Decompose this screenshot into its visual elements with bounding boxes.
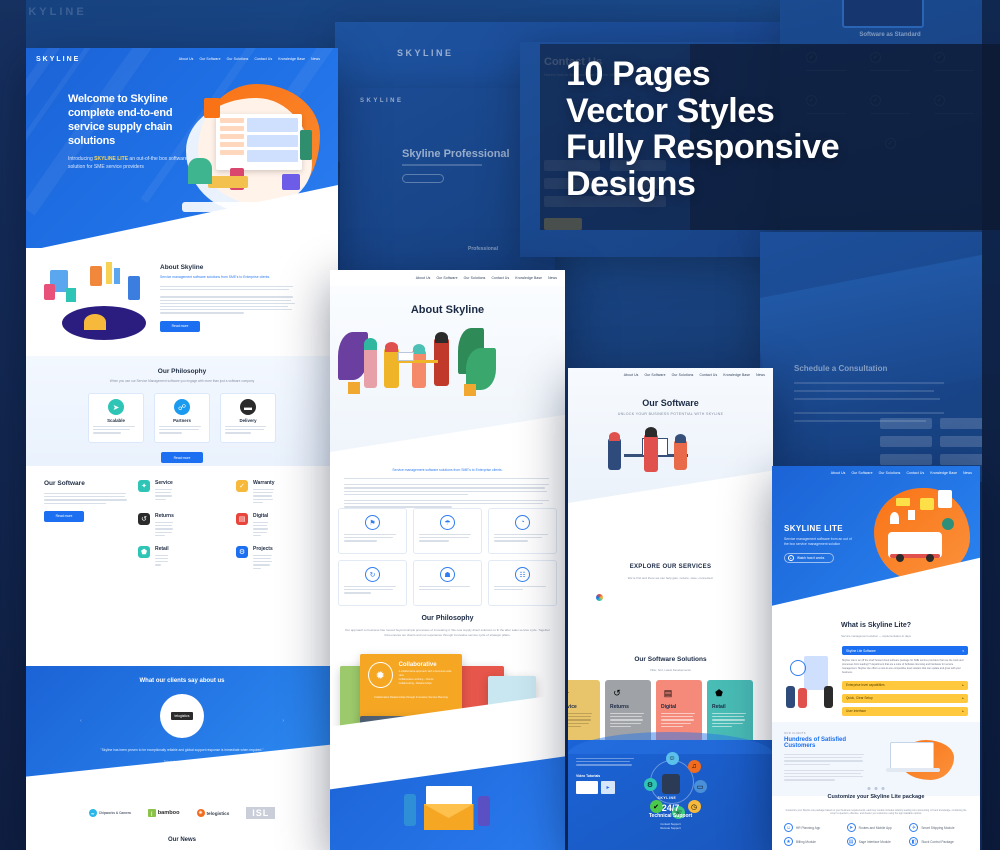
collage-stage: SKYLINE SKYLINE About Us Our Software SK… xyxy=(0,0,1000,850)
services-marker-icon xyxy=(596,594,603,601)
mockup-about[interactable]: About Us Our Software Our Solutions Cont… xyxy=(330,270,565,850)
layouts-icon: ☷ xyxy=(515,567,530,582)
partner-logo: ∞ Chipworks & Camera xyxy=(89,809,131,817)
collaborative-footer: Collaborative Relationships through Inno… xyxy=(368,696,454,699)
nav-item-contact-us[interactable]: Contact Us xyxy=(491,276,509,280)
headline-line-3: Fully Responsive xyxy=(566,129,986,166)
returns-arrows-icon: ↺ xyxy=(138,513,150,525)
lite-hero-sub: Service management software from an out … xyxy=(784,537,854,547)
accordion-item[interactable]: Skyline Lite Software ▾ xyxy=(842,646,968,655)
home-testimonials-title: What our clients say about us xyxy=(26,666,338,684)
carousel-prev-icon[interactable]: ‹ xyxy=(80,718,82,724)
play-icon[interactable]: ▸ xyxy=(601,781,615,794)
chevron-right-icon: ▸ xyxy=(962,683,964,687)
home-about-lead: Service management software solutions fr… xyxy=(160,275,296,280)
stock-icon: ◧ xyxy=(909,837,918,846)
software-page-title: Our Software xyxy=(568,398,773,408)
nav-item-our-solutions[interactable]: Our Solutions xyxy=(672,373,694,377)
software-item[interactable]: ▤ Digital xyxy=(236,513,318,536)
nav-item-news[interactable]: News xyxy=(311,57,320,61)
home-nav[interactable]: About Us Our Software Our Solutions Cont… xyxy=(171,57,328,61)
background-professional-logo: SKYLINE xyxy=(360,98,404,104)
solution-card-title: Retail xyxy=(712,704,748,710)
background-consult-title: Schedule a Consultation xyxy=(794,364,887,373)
carousel-dot[interactable] xyxy=(882,787,885,790)
solution-card-title: Digital xyxy=(661,704,697,710)
play-icon: ▸ xyxy=(788,555,794,561)
module-item[interactable]: ➤ Routes and Mobile App xyxy=(847,823,906,832)
headline-line-2: Vector Styles xyxy=(566,93,986,130)
software-solutions-sub: Filter, Sort, Latest Developments xyxy=(568,668,773,672)
background-professional-label: Professional xyxy=(468,246,498,252)
lite-customers-section: OUR CLIENTS Hundreds of Satisfied Custom… xyxy=(772,722,980,796)
home-software-section: Our Software Read more ✦ Service ✓ Warra… xyxy=(26,466,338,666)
lite-customize-title: Customize your Skyline Lite package xyxy=(772,794,980,800)
home-philosophy-read-more-button[interactable]: Read more xyxy=(161,452,203,463)
accordion-item[interactable]: User Interface ▸ xyxy=(842,707,968,716)
nav-item-about-us[interactable]: About Us xyxy=(179,57,194,61)
about-illustration xyxy=(336,328,556,406)
newsletter-illustration xyxy=(400,784,496,840)
software-illustration xyxy=(602,426,702,484)
home-partner-logos: ∞ Chipworks & Camera | bamboo ✳ telogist… xyxy=(26,794,338,834)
accordion-label: User Interface xyxy=(846,709,866,713)
routes-icon: ➤ xyxy=(847,823,856,832)
tasks-icon: ⚑ xyxy=(365,515,380,530)
philosophy-card-title: Delivery xyxy=(239,418,256,423)
lite-accordion[interactable]: Skyline Lite Software ▾ Skyline Lite is … xyxy=(842,646,968,716)
background-logo: SKYLINE xyxy=(18,6,87,18)
software-item-title: Service xyxy=(155,480,173,486)
lite-illustration xyxy=(786,646,838,712)
home-software-title: Our Software xyxy=(44,480,128,487)
home-news-section: Our News xyxy=(26,834,338,850)
chevron-right-icon: ▸ xyxy=(962,709,964,713)
software-solutions-title: Our Software Solutions xyxy=(568,656,773,663)
accordion-item[interactable]: Enterprise level capabilities ▸ xyxy=(842,681,968,690)
about-footer-band xyxy=(330,738,565,850)
home-hero: SKYLINE About Us Our Software Our Soluti… xyxy=(26,48,338,248)
carousel-next-icon[interactable]: › xyxy=(282,718,284,724)
collaborative-title: Collaborative xyxy=(399,662,454,668)
mockup-skyline-lite[interactable]: About Us Our Software Our Solutions Cont… xyxy=(772,466,980,850)
about-feature-card[interactable]: ☗ xyxy=(413,560,482,606)
software-item[interactable]: ✦ Service xyxy=(138,480,220,503)
about-feature-card[interactable]: ☷ xyxy=(488,560,557,606)
module-label: Stock Control Package xyxy=(921,840,953,844)
mockup-software[interactable]: About Us Our Software Our Solutions Cont… xyxy=(568,368,773,850)
testimonial-avatar: telogistics xyxy=(160,694,204,738)
nav-item-contact-us[interactable]: Contact Us xyxy=(254,57,272,61)
philosophy-card[interactable]: ▬ Delivery xyxy=(220,393,276,443)
software-page-subtitle: UNLOCK YOUR BUSINESS POTENTIAL WITH SKYL… xyxy=(568,412,773,416)
module-label: Smart Shipping Module xyxy=(921,826,954,830)
philosophy-card[interactable]: ☍ Partners xyxy=(154,393,210,443)
home-software-read-more-button[interactable]: Read more xyxy=(44,511,84,522)
agent-avatar xyxy=(662,774,680,794)
lite-what-title: What is Skyline Lite? xyxy=(772,622,980,629)
customers-title: Hundreds of Satisfied Customers xyxy=(784,737,866,749)
background-banner-logo: SKYLINE xyxy=(397,48,454,58)
about-feature-card[interactable]: ◔ xyxy=(488,508,557,554)
partner-logo: ISL xyxy=(246,807,275,819)
home-testimonials-section: What our clients say about us telogistic… xyxy=(26,666,338,794)
nav-item-our-solutions[interactable]: Our Solutions xyxy=(464,276,486,280)
module-label: Sage Interface Module xyxy=(859,840,891,844)
about-feature-card[interactable]: ⚑ xyxy=(338,508,407,554)
handshake-icon: ☍ xyxy=(174,399,190,415)
service-icon: ✦ xyxy=(568,686,573,700)
retail-bag-icon: ⬟ xyxy=(138,546,150,558)
background-professional-title: Skyline Professional xyxy=(402,148,510,160)
module-label: Billing Module xyxy=(796,840,816,844)
about-page-title: About Skyline xyxy=(330,304,565,316)
projects-cog-icon: ⚙ xyxy=(236,546,248,558)
accordion-item[interactable]: Quick, Clear Setup ▸ xyxy=(842,694,968,703)
collaborative-bullet: Collaborating - Relationships xyxy=(399,682,454,686)
lite-what-sub: Service management solution — implementa… xyxy=(772,634,980,638)
testimonial-avatar-label: telogistics xyxy=(171,712,194,720)
module-label: Routes and Mobile App xyxy=(859,826,892,830)
returns-icon: ↺ xyxy=(610,686,624,700)
software-hero: About Us Our Software Our Solutions Cont… xyxy=(568,368,773,518)
lite-hero-copy: SKYLINE LITE Service management software… xyxy=(784,524,854,563)
nav-item-contact-us[interactable]: Contact Us xyxy=(699,373,717,377)
hr-icon: ☺ xyxy=(784,823,793,832)
background-standard-title: Software as Standard xyxy=(780,32,1000,38)
warranty-icon: ☂ xyxy=(440,515,455,530)
about-feature-grid: ⚑ ☂ ◔ ↻ ☗ xyxy=(330,508,565,606)
module-item[interactable]: ✈ Smart Shipping Module xyxy=(909,823,968,832)
nav-item-about-us[interactable]: About Us xyxy=(416,276,431,280)
retail-icon: ⬟ xyxy=(712,686,726,700)
collaborative-icon: ✹ xyxy=(368,662,393,688)
software-explore-title: EXPLORE OUR SERVICES xyxy=(568,564,773,570)
about-feature-card[interactable]: ↻ xyxy=(338,560,407,606)
module-item[interactable]: ◧ Stock Control Package xyxy=(909,837,968,846)
software-item-title: Digital xyxy=(253,513,268,519)
lite-customize-sub: Customize your Skyline Lite package base… xyxy=(784,809,968,816)
nav-item-our-software[interactable]: Our Software xyxy=(644,373,665,377)
nav-item-news[interactable]: News xyxy=(548,276,557,280)
divider xyxy=(402,164,482,166)
background-professional-button xyxy=(402,174,444,183)
accordion-label: Quick, Clear Setup xyxy=(846,696,873,700)
software-support-band: Video Tutorials ▸ ☺ ♫ ▭ ◷ ⚙ ✔ ☏ SKYLINE … xyxy=(568,740,773,850)
support-bullet: Remote Support xyxy=(568,826,773,830)
headline-line-4: Designs xyxy=(566,166,986,203)
software-item[interactable]: ↺ Returns xyxy=(138,513,220,536)
dashboard-icon: ◔ xyxy=(515,515,530,530)
nav-item-our-solutions[interactable]: Our Solutions xyxy=(227,57,249,61)
nav-item-our-solutions[interactable]: Our Solutions xyxy=(879,471,901,475)
home-hero-title: Welcome to Skyline complete end-to-end s… xyxy=(68,92,200,148)
software-item[interactable]: ✓ Warranty xyxy=(236,480,318,503)
laptop-illustration xyxy=(886,732,958,784)
collaborative-bullet: A collaborative approach with a business… xyxy=(399,670,454,678)
headset-icon: ♫ xyxy=(688,760,701,773)
software-item-title: Projects xyxy=(253,546,273,552)
nav-item-our-software[interactable]: Our Software xyxy=(436,276,457,280)
home-philosophy-title: Our Philosophy xyxy=(26,356,338,375)
carousel-dot[interactable] xyxy=(875,787,878,790)
mockup-homepage[interactable]: SKYLINE About Us Our Software Our Soluti… xyxy=(26,48,338,850)
nav-item-our-software[interactable]: Our Software xyxy=(851,471,872,475)
solution-card-title: Returns xyxy=(610,704,646,710)
nav-item-knowledge-base[interactable]: Knowledge Base xyxy=(930,471,957,475)
billing-icon: ★ xyxy=(784,837,793,846)
accordion-body: Skyline Lite is an off the shelf hosted … xyxy=(842,659,968,675)
software-nav[interactable]: About Us Our Software Our Solutions Cont… xyxy=(568,368,773,382)
software-item-title: Retail xyxy=(155,546,169,552)
partner-logo: | bamboo xyxy=(148,809,180,817)
home-news-title: Our News xyxy=(26,834,338,843)
gear-icon: ⚙ xyxy=(644,778,657,791)
home-logo[interactable]: SKYLINE xyxy=(36,56,80,63)
solution-card-title: Service xyxy=(568,704,595,710)
module-item[interactable]: ☺ HR Planning App xyxy=(784,823,843,832)
module-item[interactable]: ★ Billing Module xyxy=(784,837,843,846)
software-item[interactable]: ⬟ Retail xyxy=(138,546,220,569)
home-philosophy-section: Our Philosophy When you use our Service … xyxy=(26,356,338,466)
about-hero: About Us Our Software Our Solutions Cont… xyxy=(330,270,565,470)
user-icon: ☺ xyxy=(666,752,679,765)
software-explore-sub: We're first and there we can help gain, … xyxy=(592,576,749,580)
software-item-title: Returns xyxy=(155,513,174,519)
laptop-icon: ▭ xyxy=(694,780,707,793)
home-about-section: About Skyline Service management softwar… xyxy=(26,248,338,356)
nav-item-our-software[interactable]: Our Software xyxy=(199,57,220,61)
lite-watch-button[interactable]: ▸ Watch how it works xyxy=(784,553,834,563)
carousel-dot[interactable] xyxy=(868,787,871,790)
about-philosophy-sub: Our approach to business has moved beyon… xyxy=(344,628,551,637)
digital-device-icon: ▤ xyxy=(236,513,248,525)
background-page-consultation: Schedule a Consultation xyxy=(760,232,1000,482)
chevron-right-icon: ▸ xyxy=(962,696,964,700)
philosophy-card-title: Scalable xyxy=(107,418,125,423)
support-label: Technical Support xyxy=(568,813,773,819)
nav-item-news[interactable]: News xyxy=(963,471,972,475)
home-philosophy-subtitle: When you use our Service Management soft… xyxy=(26,379,338,383)
headline-line-1: 10 Pages xyxy=(566,56,986,93)
module-label: HR Planning App xyxy=(796,826,820,830)
nav-item-knowledge-base[interactable]: Knowledge Base xyxy=(515,276,542,280)
support-copy: 24/7 Technical Support Contact Support R… xyxy=(568,803,773,830)
options-icon: ☗ xyxy=(440,567,455,582)
philosophy-card[interactable]: ➤ Scalable xyxy=(88,393,144,443)
home-about-read-more-button[interactable]: Read more xyxy=(160,321,200,332)
support-brand: SKYLINE xyxy=(658,796,677,800)
philosophy-card-title: Partners xyxy=(173,418,191,423)
nav-item-news[interactable]: News xyxy=(756,373,765,377)
nav-item-contact-us[interactable]: Contact Us xyxy=(906,471,924,475)
support-number: 24/7 xyxy=(568,803,773,813)
truck-icon: ▬ xyxy=(240,399,256,415)
about-nav[interactable]: About Us Our Software Our Solutions Cont… xyxy=(330,270,565,286)
home-about-title: About Skyline xyxy=(160,264,296,271)
accordion-label: Skyline Lite Software xyxy=(846,649,876,653)
nav-item-knowledge-base[interactable]: Knowledge Base xyxy=(278,57,305,61)
returns-icon: ↻ xyxy=(365,567,380,582)
monitor-icon xyxy=(842,0,924,28)
chevron-down-icon: ▾ xyxy=(962,649,964,653)
about-philosophy-title: Our Philosophy xyxy=(330,615,565,622)
warranty-badge-icon: ✓ xyxy=(236,480,248,492)
rocket-icon: ➤ xyxy=(108,399,124,415)
lite-hero: About Us Our Software Our Solutions Cont… xyxy=(772,466,980,614)
lite-hero-title: SKYLINE LITE xyxy=(784,524,854,533)
sage-icon: ▤ xyxy=(847,837,856,846)
software-item-title: Warranty xyxy=(253,480,275,486)
service-gear-icon: ✦ xyxy=(138,480,150,492)
promo-headline: 10 Pages Vector Styles Fully Responsive … xyxy=(566,56,986,203)
shipping-icon: ✈ xyxy=(909,823,918,832)
nav-item-about-us[interactable]: About Us xyxy=(624,373,639,377)
digital-icon: ▤ xyxy=(661,686,675,700)
home-hero-copy: Welcome to Skyline complete end-to-end s… xyxy=(68,92,200,172)
about-feature-card[interactable]: ☂ xyxy=(413,508,482,554)
lite-module-grid: ☺ HR Planning App ➤ Routes and Mobile Ap… xyxy=(784,823,968,846)
module-item[interactable]: ▤ Sage Interface Module xyxy=(847,837,906,846)
nav-item-about-us[interactable]: About Us xyxy=(831,471,846,475)
software-item[interactable]: ⚙ Projects xyxy=(236,546,318,569)
about-lead: Service management software solutions fr… xyxy=(344,468,551,472)
customers-eyebrow: OUR CLIENTS xyxy=(784,732,866,735)
home-topbar: SKYLINE About Us Our Software Our Soluti… xyxy=(26,48,338,70)
accordion-label: Enterprise level capabilities xyxy=(846,683,885,687)
about-lead-block: Service management software solutions fr… xyxy=(344,468,551,508)
nav-item-knowledge-base[interactable]: Knowledge Base xyxy=(723,373,750,377)
partner-logo: ✳ telogistics xyxy=(197,809,230,817)
left-edge-shade xyxy=(0,0,26,850)
home-hero-intro: Introducing SKYLINE LITE an out-of-the b… xyxy=(68,156,200,172)
